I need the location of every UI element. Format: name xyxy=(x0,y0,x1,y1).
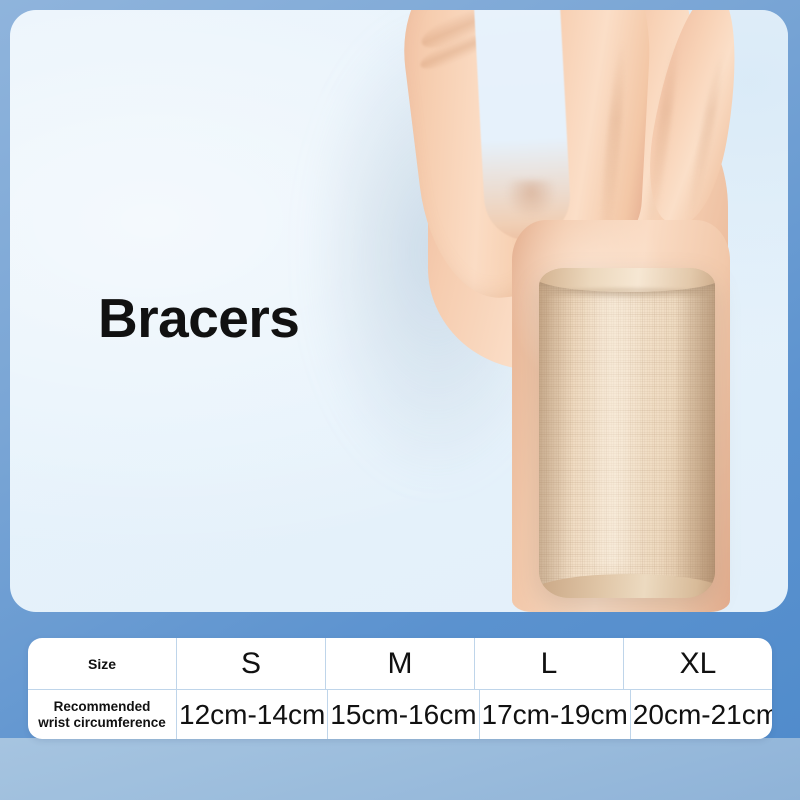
table-cell-measurement-xl: 20cm-21cm xyxy=(630,690,772,739)
table-header-size-m: M xyxy=(325,638,474,689)
table-header-size-label: Size xyxy=(28,638,176,689)
table-header-size-s: S xyxy=(176,638,325,689)
brace-left-shading xyxy=(539,268,573,598)
row-label-line-1: Recommended xyxy=(38,699,166,714)
table-cell-measurement-s: 12cm-14cm xyxy=(176,690,327,739)
bottom-blue-band xyxy=(0,738,800,800)
product-image-canvas: Bracers Size S M L XL Recommended wrist … xyxy=(0,0,800,800)
page-title: Bracers xyxy=(98,291,299,346)
table-header-size-xl: XL xyxy=(623,638,772,689)
table-cell-measurement-l: 17cm-19cm xyxy=(479,690,630,739)
table-header-size-l: L xyxy=(474,638,623,689)
brace-highlight xyxy=(583,280,641,570)
table-header-row: Size S M L XL xyxy=(28,638,772,689)
row-label-line-2: wrist circumference xyxy=(38,715,166,730)
hero-photo-card: Bracers xyxy=(10,10,788,612)
brace-right-shading xyxy=(675,268,715,598)
brace-cuff-shadow xyxy=(545,288,709,300)
table-row: Recommended wrist circumference 12cm-14c… xyxy=(28,689,772,739)
table-cell-measurement-m: 15cm-16cm xyxy=(327,690,478,739)
table-row-label-wrist-circumference: Recommended wrist circumference xyxy=(28,690,176,739)
wrist-brace-sleeve xyxy=(539,268,715,598)
brace-bottom-hem xyxy=(539,574,715,598)
size-chart-table: Size S M L XL Recommended wrist circumfe… xyxy=(28,638,772,739)
